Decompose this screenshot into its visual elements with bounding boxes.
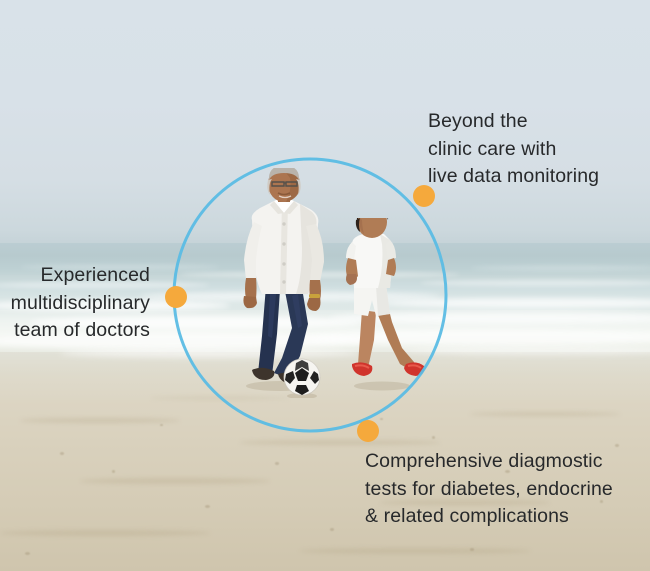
callout-line: & related complications [365,503,613,531]
callout-text-comprehensive-diagnostics: Comprehensive diagmostic tests for diabe… [365,448,613,531]
callout-dot-left[interactable] [165,286,187,308]
callout-text-experienced-team: Experienced multidisciplinary team of do… [11,262,150,345]
callout-line: Beyond the [428,108,599,136]
callout-line: Comprehensive diagmostic [365,448,613,476]
callout-line: multidisciplinary [11,290,150,318]
callout-text-beyond-clinic-care: Beyond the clinic care with live data mo… [428,108,599,191]
young-boy [332,218,437,393]
callout-line: team of doctors [11,317,150,345]
football [282,358,322,398]
callout-line: live data monitoring [428,163,599,191]
callout-line: Experienced [11,262,150,290]
beach-infographic-scene: Beyond the clinic care with live data mo… [0,0,650,571]
callout-dot-bottom-right[interactable] [357,420,379,442]
callout-line: tests for diabetes, endocrine [365,476,613,504]
callout-line: clinic care with [428,136,599,164]
